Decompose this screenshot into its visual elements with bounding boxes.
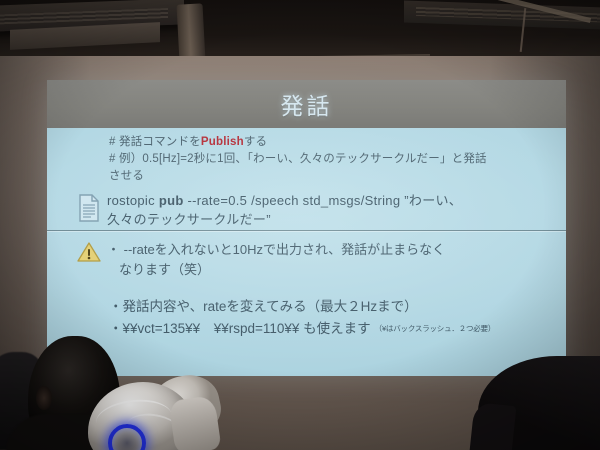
warning-row: ・ --rateを入れないと10Hzで出力され、発話が止まらなく なります（笑） (77, 240, 552, 280)
command-post: --rate=0.5 /speech std_msgs/String ”わーい、 (184, 193, 463, 208)
comment-line-2: # 例）0.5[Hz]=2秒に1回、「わーい、久々のテックサークルだー」と発話 (109, 151, 552, 168)
bullet-line-2-text: ・¥¥vct=135¥¥ ¥¥rspd=110¥¥ も使えます (109, 321, 371, 336)
comment-block: # 発話コマンドをPublishする # 例）0.5[Hz]=2秒に1回、「わー… (77, 134, 552, 185)
comment-line-1-pre: # 発話コマンドを (109, 136, 201, 148)
page-title: 発話 (281, 87, 333, 121)
warning-section: ・ --rateを入れないと10Hzで出力され、発話が止まらなく なります（笑） (47, 240, 566, 280)
section-divider (47, 230, 566, 231)
bullet-line-2-note: （¥はバックスラッシュ．２つ必要） (375, 324, 496, 333)
bullet-line-2: ・¥¥vct=135¥¥ ¥¥rspd=110¥¥ も使えます（¥はバックスラッ… (109, 318, 552, 340)
bullet-list: ・発話内容や、rateを変えてみる（最大２Hzまで） ・¥¥vct=135¥¥ … (77, 296, 552, 340)
bullet-line-1: ・発話内容や、rateを変えてみる（最大２Hzまで） (109, 296, 552, 318)
command-wrap-line: 久々のテックサークルだー” (107, 210, 462, 229)
photo-scene: 発話 # 発話コマンドをPublishする # 例）0.5[Hz]=2秒に1回、… (0, 0, 600, 450)
comment-line-1: # 発話コマンドをPublishする (109, 134, 552, 151)
warning-line-1: ・ --rateを入れないと10Hzで出力され、発話が止まらなく (107, 242, 445, 257)
ceiling-duct (177, 3, 206, 62)
bullets-section: ・発話内容や、rateを変えてみる（最大２Hzまで） ・¥¥vct=135¥¥ … (47, 296, 566, 340)
comment-line-1-post: する (244, 136, 267, 148)
slide-body: # 発話コマンドをPublishする # 例）0.5[Hz]=2秒に1回、「わー… (47, 128, 566, 376)
command-text: rostopic pub --rate=0.5 /speech std_msgs… (107, 191, 462, 229)
warning-line-2: なります（笑） (107, 260, 445, 280)
audience-member-ear (36, 386, 52, 410)
ceiling (0, 0, 600, 64)
comment-line-3: させる (109, 168, 552, 185)
projected-slide: 発話 # 発話コマンドをPublishする # 例）0.5[Hz]=2秒に1回、… (47, 80, 566, 376)
command-pre: rostopic (107, 193, 159, 208)
comment-highlight-publish: Publish (201, 136, 244, 148)
command-section: # 発話コマンドをPublishする # 例）0.5[Hz]=2秒に1回、「わー… (47, 134, 566, 229)
warning-text: ・ --rateを入れないと10Hzで出力され、発話が止まらなく なります（笑） (107, 240, 445, 280)
command-bold-pub: pub (159, 193, 184, 208)
slide-header: 発話 (47, 80, 566, 128)
warning-triangle-icon (77, 241, 101, 268)
command-row: rostopic pub --rate=0.5 /speech std_msgs… (77, 191, 552, 229)
document-icon (77, 193, 101, 228)
audience-right-arm (470, 402, 517, 450)
